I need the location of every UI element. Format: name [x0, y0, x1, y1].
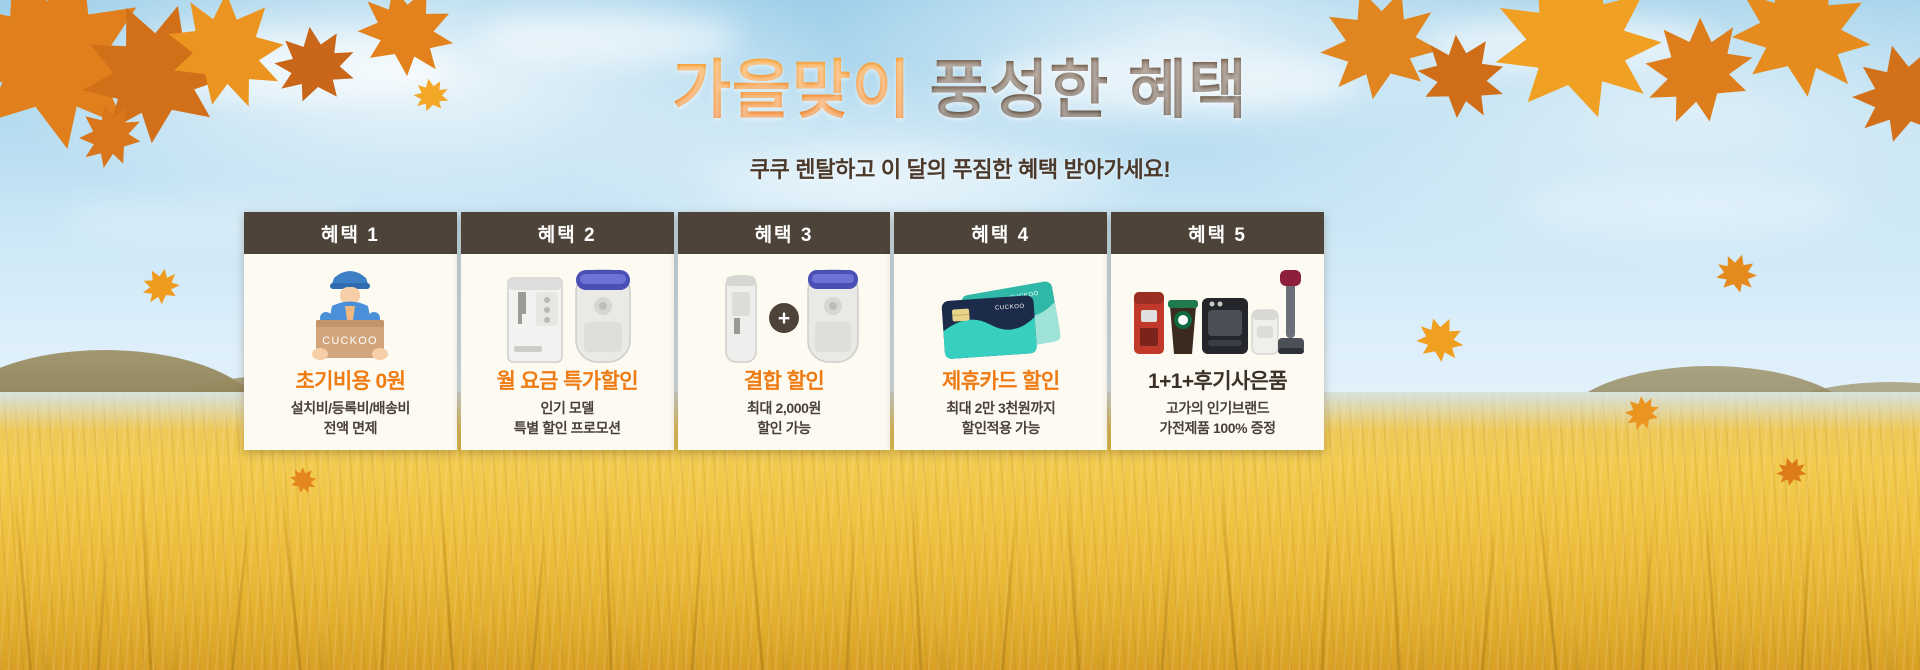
- headline-dark-text: 풍성한 혜택: [930, 54, 1248, 126]
- benefit-card-5-body: 1+1+후기사은품 고가의 인기브랜드 가전제품 100% 증정: [1111, 254, 1324, 450]
- benefit-card-1-body: CUCKOO 초기비용 0원 설치비/등록비/배송비 전액 면제: [244, 254, 457, 450]
- page-subtitle: 쿠쿠 렌탈하고 이 달의 푸짐한 혜택 받아가세요!: [0, 152, 1920, 184]
- benefit-card-list: 혜택 1: [244, 212, 1324, 450]
- benefit-card-1-desc: 설치비/등록비/배송비 전액 면제: [291, 399, 410, 438]
- benefit-card-4-body: CUCKOO CUCKOO 제휴카드 할인 최대 2만: [894, 254, 1107, 450]
- benefit-card-4-desc-line2: 할인적용 가능: [946, 419, 1055, 438]
- benefit-card-1-desc-line1: 설치비/등록비/배송비: [291, 399, 410, 418]
- benefit-card-3-desc: 최대 2,000원 할인 가능: [747, 399, 821, 438]
- svg-text:CUCKOO: CUCKOO: [323, 335, 378, 347]
- benefit-card-2[interactable]: 혜택 2: [461, 212, 674, 450]
- benefit-card-3-desc-line1: 최대 2,000원: [747, 399, 821, 418]
- installer-with-box-icon: CUCKOO: [250, 262, 451, 366]
- water-purifier-air-purifier-icon: [467, 262, 668, 366]
- appliance-gift-bundle-icon: [1117, 262, 1318, 366]
- benefit-card-3-title: 결합 할인: [744, 370, 824, 394]
- plus-symbol: +: [778, 307, 790, 330]
- benefit-card-4[interactable]: 혜택 4 CUCKOO: [894, 212, 1107, 450]
- promo-banner: 가을맞이풍성한 혜택 쿠쿠 렌탈하고 이 달의 푸짐한 혜택 받아가세요! 혜택…: [0, 0, 1920, 670]
- benefit-card-3[interactable]: 혜택 3 +: [678, 212, 891, 450]
- headline-orange-text: 가을맞이: [672, 54, 912, 126]
- benefit-card-5-desc-line1: 고가의 인기브랜드: [1160, 399, 1276, 418]
- benefit-card-3-body: + 결합 할인 최대 2,000원 할인 가능: [678, 254, 891, 450]
- benefit-card-1-title: 초기비용 0원: [295, 370, 405, 394]
- benefit-card-1-desc-line2: 전액 면제: [291, 419, 410, 438]
- benefit-card-4-header: 혜택 4: [894, 212, 1107, 254]
- benefit-card-2-header: 혜택 2: [461, 212, 674, 254]
- partner-credit-cards-icon: CUCKOO CUCKOO: [900, 262, 1101, 366]
- combined-purifiers-icon: +: [684, 262, 885, 366]
- benefit-card-2-desc-line2: 특별 할인 프로모션: [514, 419, 621, 438]
- benefit-card-4-desc-line1: 최대 2만 3천원까지: [946, 399, 1055, 418]
- benefit-card-5[interactable]: 혜택 5: [1111, 212, 1324, 450]
- benefit-card-3-desc-line2: 할인 가능: [747, 419, 821, 438]
- benefit-card-5-title: 1+1+후기사은품: [1148, 370, 1287, 394]
- benefit-card-1-header: 혜택 1: [244, 212, 457, 254]
- benefit-card-3-header: 혜택 3: [678, 212, 891, 254]
- benefit-card-5-header: 혜택 5: [1111, 212, 1324, 254]
- benefit-card-2-title: 월 요금 특가할인: [496, 370, 638, 394]
- benefit-card-2-desc: 인기 모델 특별 할인 프로모션: [514, 399, 621, 438]
- benefit-card-5-desc-line2: 가전제품 100% 증정: [1160, 419, 1276, 438]
- benefit-card-4-title: 제휴카드 할인: [942, 370, 1060, 394]
- benefit-card-1[interactable]: 혜택 1: [244, 212, 457, 450]
- benefit-card-4-desc: 최대 2만 3천원까지 할인적용 가능: [946, 399, 1055, 438]
- benefit-card-5-desc: 고가의 인기브랜드 가전제품 100% 증정: [1160, 399, 1276, 438]
- benefit-card-2-desc-line1: 인기 모델: [514, 399, 621, 418]
- page-title: 가을맞이풍성한 혜택: [0, 58, 1920, 122]
- rice-stalks: [0, 440, 1920, 670]
- benefit-card-2-body: 월 요금 특가할인 인기 모델 특별 할인 프로모션: [461, 254, 674, 450]
